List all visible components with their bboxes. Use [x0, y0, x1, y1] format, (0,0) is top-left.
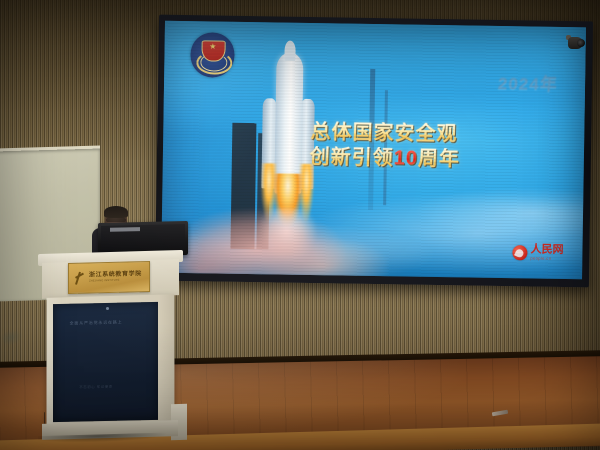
lectern-podium: 浙江系统教育学院 ZHEJIANG INSTITUTE 全面从严治党永远在路上 … [38, 252, 183, 437]
security-camera-icon [566, 35, 586, 51]
lecture-hall-photo: 2024年 总体国家安全观 创新引领10周年 人民网 people.cn [0, 0, 600, 450]
presenter-hair [104, 206, 128, 218]
institution-name-en: ZHEJIANG INSTITUTE [89, 279, 142, 283]
headline-line-2: 创新引领10周年 [310, 147, 461, 172]
peoples-daily-mark-icon [512, 245, 527, 260]
institution-name-cn: 浙江系统教育学院 [89, 271, 142, 278]
podium-panel-dot-icon [106, 307, 109, 310]
led-presentation-screen[interactable]: 2024年 总体国家安全观 创新引领10周年 人民网 people.cn [155, 15, 593, 288]
headline-line-1: 总体国家安全观 [310, 121, 461, 146]
launch-smoke-cloud [169, 192, 389, 279]
national-police-emblem-icon [190, 32, 235, 77]
podium-institution-plaque: 浙江系统教育学院 ZHEJIANG INSTITUTE [68, 261, 150, 294]
headline-line-2-suffix: 周年 [418, 148, 461, 171]
slide-headline: 总体国家安全观 创新引领10周年 [310, 121, 462, 171]
camera-lens-icon [577, 39, 585, 47]
rocket-nosecone-icon [284, 40, 295, 60]
peoples-daily-name-cn: 人民网 [530, 245, 563, 257]
monitor-highlight [110, 227, 140, 232]
peoples-daily-name-en: people.cn [530, 257, 563, 262]
screen-surface: 2024年 总体国家安全观 创新引领10周年 人民网 people.cn [161, 21, 586, 280]
headline-line-2-prefix: 创新引领 [310, 147, 395, 170]
headline-anniversary-number: 10 [394, 148, 419, 170]
emblem-wreath-inner-icon [200, 53, 227, 71]
institution-logo-icon [74, 271, 86, 285]
slide-year-watermark: 2024年 [497, 69, 559, 95]
peoples-daily-logo: 人民网 people.cn [512, 245, 563, 262]
presenter-glasses-icon [106, 218, 126, 222]
